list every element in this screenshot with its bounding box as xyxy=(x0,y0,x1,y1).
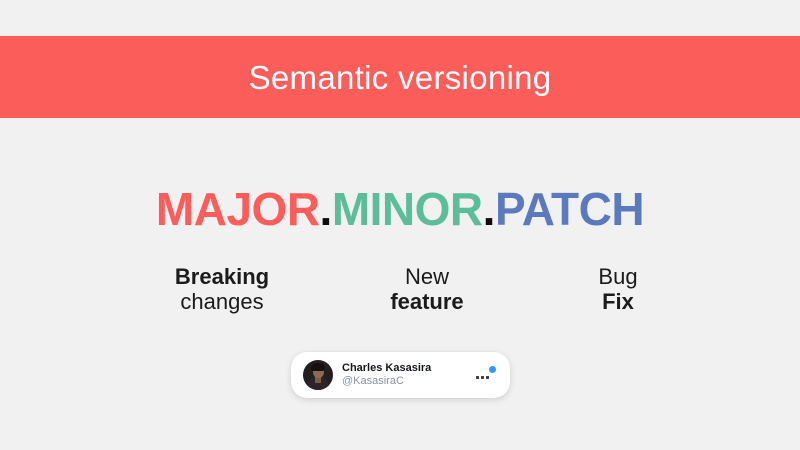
attribution-menu-button[interactable] xyxy=(476,361,500,389)
version-separator-dot-2: . xyxy=(483,183,495,235)
label-patch-description: Bug Fix xyxy=(538,265,698,314)
ellipsis-dot-1 xyxy=(476,376,479,379)
avatar-hair-shape xyxy=(311,363,325,371)
version-segment-patch: PATCH xyxy=(495,183,644,235)
avatar xyxy=(303,360,333,390)
version-segment-minor: MINOR xyxy=(332,183,483,235)
attribution-text: Charles Kasasira @KasasiraC xyxy=(342,362,476,388)
ellipsis-dot-3 xyxy=(486,376,489,379)
label-minor-description: New feature xyxy=(332,265,522,314)
ellipsis-dot-2 xyxy=(481,376,484,379)
slide-canvas: Semantic versioning MAJOR.MINOR.PATCH Br… xyxy=(0,0,800,450)
page-title: Semantic versioning xyxy=(249,61,552,94)
label-minor-line-2: feature xyxy=(332,290,522,315)
version-separator-dot-1: . xyxy=(320,183,332,235)
version-segment-major: MAJOR xyxy=(156,183,320,235)
attribution-handle: @KasasiraC xyxy=(342,375,476,388)
attribution-display-name: Charles Kasasira xyxy=(342,362,476,375)
label-major-description: Breaking changes xyxy=(122,265,322,314)
version-scheme: MAJOR.MINOR.PATCH xyxy=(0,186,800,232)
label-row: Breaking changes New feature Bug Fix xyxy=(110,265,700,314)
label-major-line-1: Breaking xyxy=(122,265,322,290)
notification-dot-icon xyxy=(489,366,496,373)
header-banner: Semantic versioning xyxy=(0,36,800,118)
label-minor-line-1: New xyxy=(332,265,522,290)
label-major-line-2: changes xyxy=(122,290,322,315)
label-patch-line-2: Fix xyxy=(538,290,698,315)
label-patch-line-1: Bug xyxy=(538,265,698,290)
attribution-card[interactable]: Charles Kasasira @KasasiraC xyxy=(291,352,510,398)
ellipsis-icon[interactable] xyxy=(476,376,489,379)
